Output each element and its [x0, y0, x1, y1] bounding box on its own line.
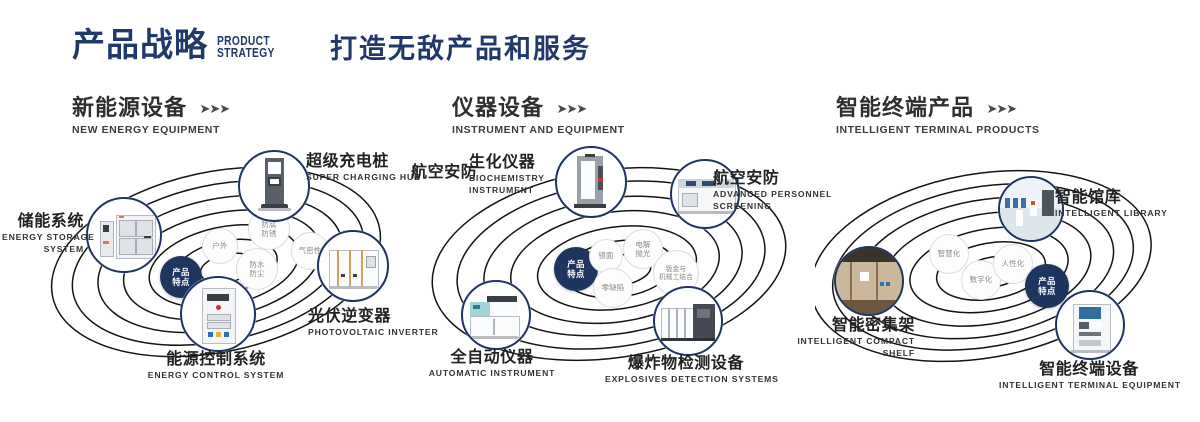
label-intelligent-terminal-equipment: 智能终端设备 INTELLIGENT TERMINAL EQUIPMENT [999, 360, 1179, 390]
product-strategy-infographic: 产品战略 PRODUCT STRATEGY 打造无敌产品和服务 新能源设备 ➤➤… [0, 0, 1200, 422]
node-label-cn: 超级充电桩 [306, 152, 421, 170]
node-label-cn: 智能密集架 [755, 316, 915, 334]
label-intelligent-compact-shelf: 智能密集架 INTELLIGENT COMPACT SHELF [755, 316, 915, 359]
section-title-instrument: 仪器设备 ➤➤➤ INSTRUMENT AND EQUIPMENT [452, 97, 625, 136]
section-title-cn: 智能终端产品 [836, 97, 974, 120]
node-label-en-line1: INTELLIGENT COMPACT [755, 336, 915, 347]
node-energy-storage-system[interactable] [86, 197, 162, 273]
label-intelligent-library: 智能馆库 INTELLIGENT LIBRARY [1055, 188, 1168, 218]
node-label-en-line1: AUTOMATIC INSTRUMENT [417, 368, 567, 379]
label-explosives-detection-systems: 爆炸物检测设备 EXPLOSIVES DETECTION SYSTEMS [605, 354, 767, 384]
feature-bubble-line1: 人性化 [1002, 259, 1025, 268]
feature-bubble-line2: 机械工结合 [659, 273, 693, 281]
label-biochemistry-instrument: 生化仪器 BIOCHEMISTRY INSTRUMENT [469, 153, 545, 196]
node-intelligent-compact-shelf[interactable] [834, 246, 904, 316]
core-bubble-line2: 特点 [1038, 286, 1056, 296]
chevron-right-icon: ➤➤➤ [986, 101, 1016, 117]
section-title-en: NEW ENERGY EQUIPMENT [72, 124, 229, 136]
brand-title: 产品战略 PRODUCT STRATEGY [72, 28, 287, 61]
feature-bubble-line2: 防尘 [249, 269, 264, 278]
node-biochemistry-instrument[interactable] [555, 146, 627, 218]
node-label-en-line1: EXPLOSIVES DETECTION SYSTEMS [605, 374, 767, 385]
biochemistry-instrument-photo [557, 148, 625, 216]
feature-bubble-line2: 防锈 [261, 229, 276, 238]
core-bubble-line2: 特点 [567, 269, 585, 279]
headline: 打造无敌产品和服务 [330, 36, 591, 63]
feature-bubble-line1: 镜面 [598, 251, 613, 260]
label-energy-control-system: 能源控制系统 ENERGY CONTROL SYSTEM [136, 350, 296, 380]
node-label-en-line1: PHOTOVOLTAIC INVERTER [308, 327, 439, 338]
label-automatic-instrument: 全自动仪器 AUTOMATIC INSTRUMENT [417, 348, 567, 378]
core-bubble-line1: 产品 [567, 259, 585, 269]
feature-bubble: 零缺陷 [593, 268, 633, 308]
node-label-cn: 生化仪器 [469, 153, 545, 171]
node-label-en-line1: INTELLIGENT LIBRARY [1055, 208, 1168, 219]
intelligent-library-photo [1000, 178, 1062, 240]
section-title-new-energy: 新能源设备 ➤➤➤ NEW ENERGY EQUIPMENT [72, 97, 229, 136]
node-label-en-line1: INTELLIGENT TERMINAL EQUIPMENT [999, 380, 1179, 391]
node-label-en-line1: BIOCHEMISTRY [469, 173, 545, 184]
feature-bubble-line2: 抛光 [635, 249, 650, 258]
explosives-detection-systems-photo [655, 288, 721, 354]
feature-bubble-line1: 零缺陷 [602, 283, 625, 292]
brand-title-en: PRODUCT STRATEGY [217, 35, 275, 59]
section-title-en: INTELLIGENT TERMINAL PRODUCTS [836, 124, 1040, 136]
label-photovoltaic-inverter: 光伏逆变器 PHOTOVOLTAIC INVERTER [308, 307, 439, 337]
section-title-en: INSTRUMENT AND EQUIPMENT [452, 124, 625, 136]
brand-title-en-line2: STRATEGY [217, 47, 275, 59]
feature-bubble: 智慧化 [929, 234, 969, 274]
intelligent-compact-shelf-photo [836, 248, 902, 314]
node-label-en-line1: SUPER CHARGING HUB [306, 172, 421, 183]
diagram-new-energy: 产品 特点 户外 防腐 防锈 防水 防尘 气密性 [50, 150, 420, 380]
feature-bubble-line1: 智慧化 [938, 249, 961, 258]
node-label-cn: 光伏逆变器 [308, 307, 439, 325]
node-label-en-line1: ENERGY CONTROL SYSTEM [136, 370, 296, 381]
node-label-cn: 智能馆库 [1055, 188, 1168, 206]
core-bubble-line1: 产品 [172, 267, 190, 277]
node-intelligent-terminal-equipment[interactable] [1055, 290, 1125, 360]
feature-bubble-line1: 数字化 [970, 275, 993, 284]
node-label-cn: 智能终端设备 [999, 360, 1179, 378]
feature-bubble-line1: 钣金与 [666, 265, 686, 273]
feature-bubble-line1: 电解 [635, 240, 650, 249]
energy-storage-system-photo [88, 199, 160, 271]
diagram-intelligent-terminal: 智慧化 数字化 人性化 产品 特点 智 [815, 150, 1200, 390]
node-label-en-line2: SYSTEM [2, 244, 84, 255]
node-label-cn: 爆炸物检测设备 [605, 354, 767, 372]
node-photovoltaic-inverter[interactable] [317, 230, 389, 302]
section-title-intelligent-terminal: 智能终端产品 ➤➤➤ INTELLIGENT TERMINAL PRODUCTS [836, 97, 1040, 136]
super-charging-hub-photo [240, 152, 308, 220]
automatic-instrument-photo [463, 282, 529, 348]
feature-bubble-line1: 防水 [249, 260, 264, 269]
label-aviation-security-side: 航空安防 [411, 163, 477, 181]
section-title-cn: 新能源设备 [72, 97, 187, 120]
node-explosives-detection-systems[interactable] [653, 286, 723, 356]
photovoltaic-inverter-photo [319, 232, 387, 300]
node-super-charging-hub[interactable] [238, 150, 310, 222]
node-automatic-instrument[interactable] [461, 280, 531, 350]
chevron-right-icon: ➤➤➤ [556, 101, 586, 117]
feature-bubble-line1: 户外 [212, 241, 227, 250]
section-title-cn: 仪器设备 [452, 97, 544, 120]
feature-bubble: 户外 [202, 228, 238, 264]
brand-title-cn: 产品战略 [72, 28, 208, 61]
chevron-right-icon: ➤➤➤ [199, 101, 229, 117]
intelligent-terminal-equipment-photo [1057, 292, 1123, 358]
side-label-cn: 航空安防 [411, 163, 477, 181]
node-label-cn: 能源控制系统 [136, 350, 296, 368]
core-bubble-line1: 产品 [1038, 276, 1056, 286]
node-energy-control-system[interactable] [180, 276, 256, 352]
node-label-en-line2: INSTRUMENT [469, 185, 545, 196]
node-label-en-line1: ENERGY STORAGE [2, 232, 84, 243]
energy-control-system-photo [182, 278, 254, 350]
label-super-charging-hub: 超级充电桩 SUPER CHARGING HUB [306, 152, 421, 182]
node-label-en-line2: SHELF [755, 348, 915, 359]
node-label-cn: 储能系统 [2, 212, 84, 230]
label-energy-storage-system: 储能系统 ENERGY STORAGE SYSTEM [2, 212, 84, 255]
node-label-cn: 全自动仪器 [417, 348, 567, 366]
